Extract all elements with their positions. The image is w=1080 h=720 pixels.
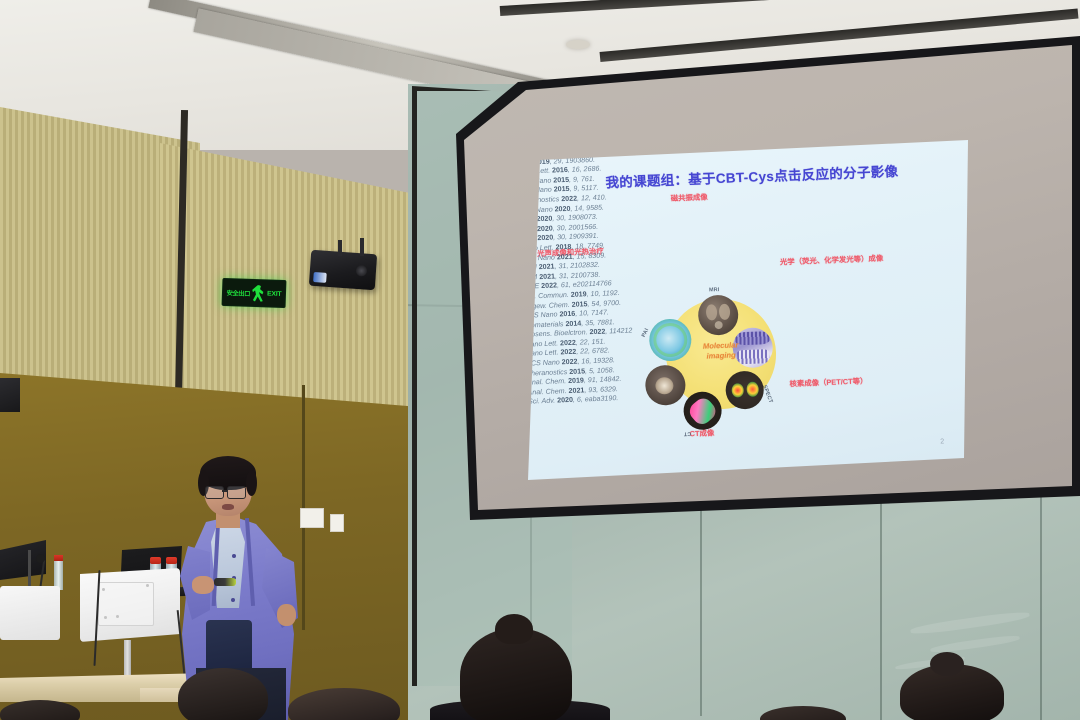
projector-badge (313, 272, 327, 283)
audience-head (178, 668, 268, 720)
bottle-cap (54, 555, 63, 561)
monitor-screw (116, 615, 119, 618)
exit-sign-label: EXIT (267, 290, 282, 297)
lecture-hall-photo: 安全出口 EXIT 我的课题组：基于CBT-Cys点击反应的分子影像 磁共振成像… (0, 0, 1080, 720)
slide-page-number: 2 (940, 438, 944, 445)
projector-mount (338, 240, 342, 256)
ceiling-downlight (566, 40, 590, 49)
cardigan-button (231, 598, 235, 602)
wall-speaker (0, 378, 20, 412)
eyeglasses-bridge (222, 490, 228, 492)
projector-mount (360, 238, 364, 256)
cardigan-button (232, 554, 236, 558)
foreground-monitor (0, 586, 60, 640)
bottle-cap (166, 557, 177, 564)
monitor-panel (98, 582, 154, 626)
eyeglasses-lens (227, 486, 246, 499)
ceiling-projector (309, 250, 377, 291)
emergency-exit-sign: 安全出口 EXIT (222, 278, 287, 308)
monitor-screw (146, 584, 149, 587)
presenter-right-hand (277, 604, 296, 626)
presenter-mouth (222, 504, 234, 510)
wheel-image-spect (725, 370, 765, 409)
eyeglasses-lens (205, 486, 224, 499)
presenter-trousers (206, 620, 252, 672)
presenter-hair-side (246, 470, 257, 496)
wall-notice (330, 514, 344, 532)
presenter-left-hand (192, 576, 214, 594)
wheel-label-ct: CT (684, 430, 692, 436)
wheel-image-ct (683, 391, 723, 430)
presentation-clicker (214, 578, 236, 586)
monitor-screw (102, 588, 105, 591)
projector-lens (356, 265, 368, 277)
wheel-center-label: Molecular imaging (687, 340, 754, 362)
projected-slide: 我的课题组：基于CBT-Cys点击反应的分子影像 磁共振成像 Nano Lett… (524, 140, 968, 480)
wheel-center-line2: imaging (706, 350, 736, 360)
audience-hair-tuft (495, 614, 533, 644)
monitor-screw (104, 616, 107, 619)
equipment-stand (28, 550, 31, 590)
wood-slat-wall-mid (160, 115, 420, 415)
wheel-label-mri: MRI (709, 287, 720, 293)
running-person-icon (252, 284, 266, 301)
bottle-cap (150, 557, 161, 564)
exit-sign-label-cn: 安全出口 (226, 288, 250, 298)
wall-notice (300, 508, 324, 528)
audience-hair-tuft (930, 652, 964, 676)
microphone-head (36, 554, 45, 563)
